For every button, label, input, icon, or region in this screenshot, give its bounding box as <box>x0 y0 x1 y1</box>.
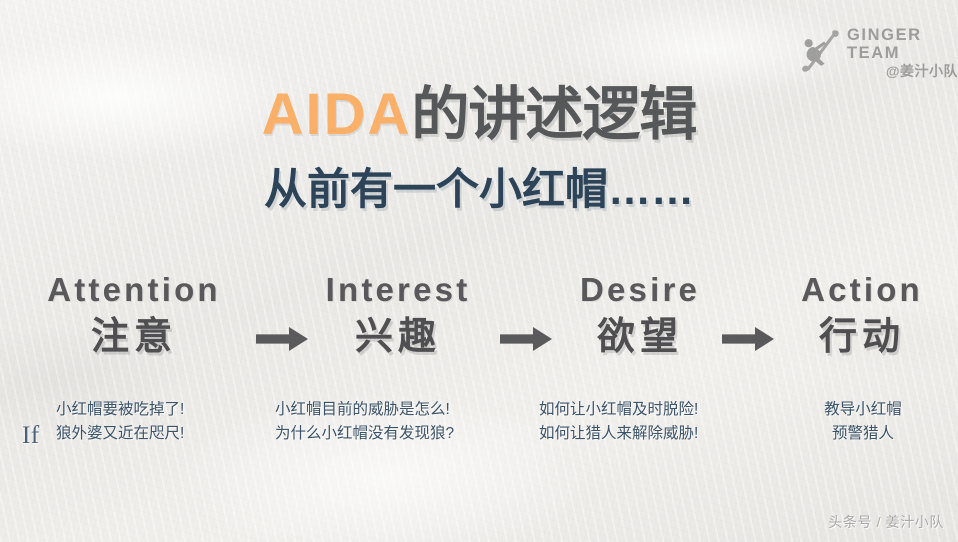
stage-desire-en: Desire <box>540 272 740 308</box>
description-desire: 如何让小红帽及时脱险! 如何让猎人来解除威胁! <box>539 398 698 447</box>
page-title: AIDA的讲述逻辑 <box>0 86 958 144</box>
page-title-accent: AIDA <box>262 82 412 147</box>
description-line: 如何让猎人来解除威胁! <box>539 422 698 446</box>
description-attention-lines: 小红帽要被吃掉了! 狼外婆又近在咫尺! <box>22 398 184 447</box>
stage-interest-en: Interest <box>288 272 508 308</box>
description-desire-lines: 如何让小红帽及时脱险! 如何让猎人来解除威胁! <box>539 398 698 447</box>
stage-interest: Interest 兴趣 <box>288 272 508 359</box>
stage-action-cn: 行动 <box>772 317 952 359</box>
brand-logo: GINGER TEAM @姜汁小队 <box>800 26 958 81</box>
stage-action: Action 行动 <box>772 272 952 359</box>
kayaker-paddler-icon <box>800 30 840 76</box>
slide-canvas: GINGER TEAM @姜汁小队 AIDA的讲述逻辑 从前有一个小红帽…… A… <box>0 0 958 542</box>
description-line: 教导小红帽 <box>798 398 928 422</box>
logo-brand-name: GINGER TEAM <box>847 26 958 62</box>
logo-handle: @姜汁小队 <box>886 63 958 81</box>
description-action: 教导小红帽 预警猎人 <box>798 398 928 447</box>
arrow-right-icon <box>722 326 774 352</box>
stage-interest-cn: 兴趣 <box>288 317 508 359</box>
description-line: 小红帽要被吃掉了! <box>56 398 184 422</box>
stage-attention-cn: 注意 <box>8 317 260 359</box>
description-line: 预警猎人 <box>798 422 928 446</box>
description-interest-lines: 小红帽目前的威胁是怎么! 为什么小红帽没有发现狼? <box>275 398 454 447</box>
description-attention-prefix: If <box>22 416 40 456</box>
page-title-rest: 的讲述逻辑 <box>411 82 696 147</box>
description-line: 小红帽目前的威胁是怎么! <box>275 398 454 422</box>
stage-attention: Attention 注意 <box>8 272 260 359</box>
page-subtitle: 从前有一个小红帽…… <box>0 155 958 217</box>
logo-text-block: GINGER TEAM @姜汁小队 <box>847 26 958 81</box>
stage-attention-en: Attention <box>8 272 260 308</box>
aida-stage-row: Attention 注意 Interest 兴趣 Desire 欲望 <box>0 272 958 382</box>
stage-desire: Desire 欲望 <box>540 272 740 359</box>
description-interest: 小红帽目前的威胁是怎么! 为什么小红帽没有发现狼? <box>275 398 454 447</box>
description-action-lines: 教导小红帽 预警猎人 <box>798 398 928 447</box>
stage-description-row: If 小红帽要被吃掉了! 狼外婆又近在咫尺! 小红帽目前的威胁是怎么! 为什么小… <box>0 398 958 468</box>
description-line: 狼外婆又近在咫尺! <box>56 422 184 446</box>
arrow-desire-to-action <box>722 326 774 352</box>
description-line: 如何让小红帽及时脱险! <box>539 398 698 422</box>
stage-action-en: Action <box>772 272 952 308</box>
description-attention: If 小红帽要被吃掉了! 狼外婆又近在咫尺! <box>22 398 184 447</box>
stage-desire-cn: 欲望 <box>540 317 740 359</box>
description-line: 为什么小红帽没有发现狼? <box>275 422 454 446</box>
watermark: 头条号 / 姜汁小队 <box>828 512 944 532</box>
